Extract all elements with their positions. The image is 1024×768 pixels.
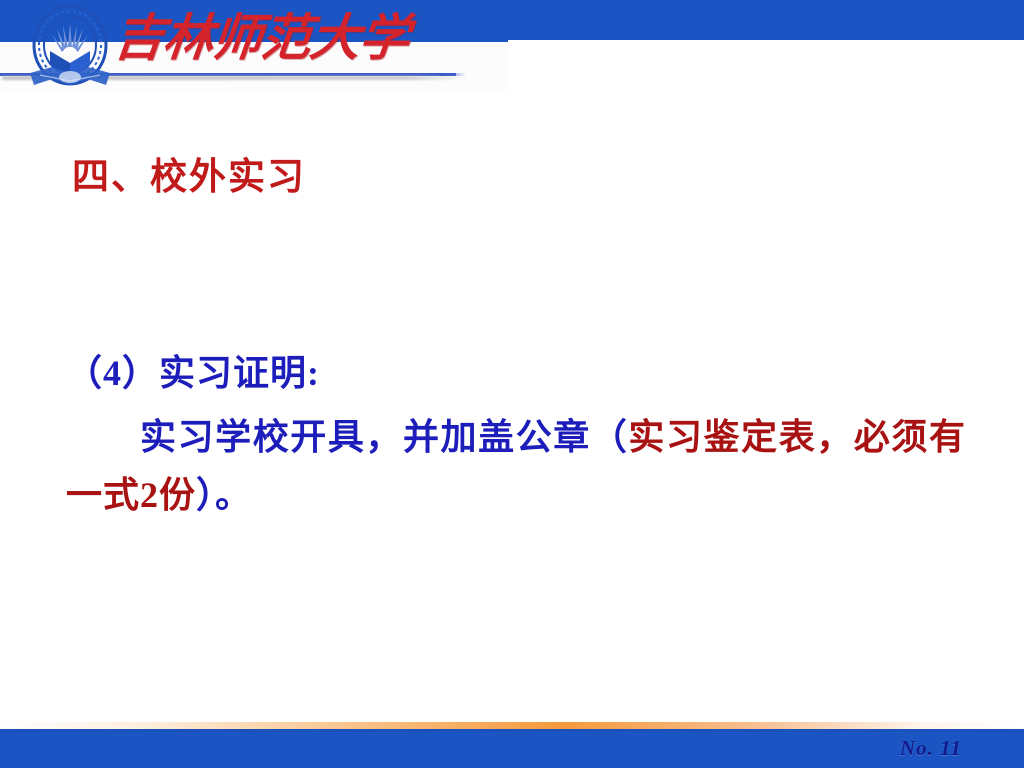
header-band-right <box>505 0 1024 40</box>
paragraph-segment-blue-2: ）。 <box>196 475 252 515</box>
footer-bar <box>0 729 1024 768</box>
page-number: No. 11 <box>900 736 962 761</box>
presentation-slide: 吉林师范大学 四、校外实习 （4）实习证明: 实习学校开具，并加盖公章（实习鉴定… <box>0 0 1024 768</box>
header-divider-fade <box>440 73 466 76</box>
slide-footer: No. 11 <box>0 722 1024 768</box>
slide-header: 吉林师范大学 <box>0 0 1024 110</box>
item-label: （4）实习证明: <box>66 344 966 402</box>
body-paragraph: 实习学校开具，并加盖公章（实习鉴定表，必须有一式2份）。 <box>66 408 966 524</box>
paragraph-segment-blue-1: 实习学校开具，并加盖公章（ <box>140 417 628 457</box>
section-title: 四、校外实习 <box>72 146 306 200</box>
footer-accent-line <box>0 722 1024 729</box>
footer-bar-edge <box>0 729 1024 732</box>
slide-body: （4）实习证明: 实习学校开具，并加盖公章（实习鉴定表，必须有一式2份）。 <box>66 344 966 524</box>
university-emblem-icon <box>22 3 118 95</box>
university-name-calligraphy: 吉林师范大学 <box>111 6 368 72</box>
